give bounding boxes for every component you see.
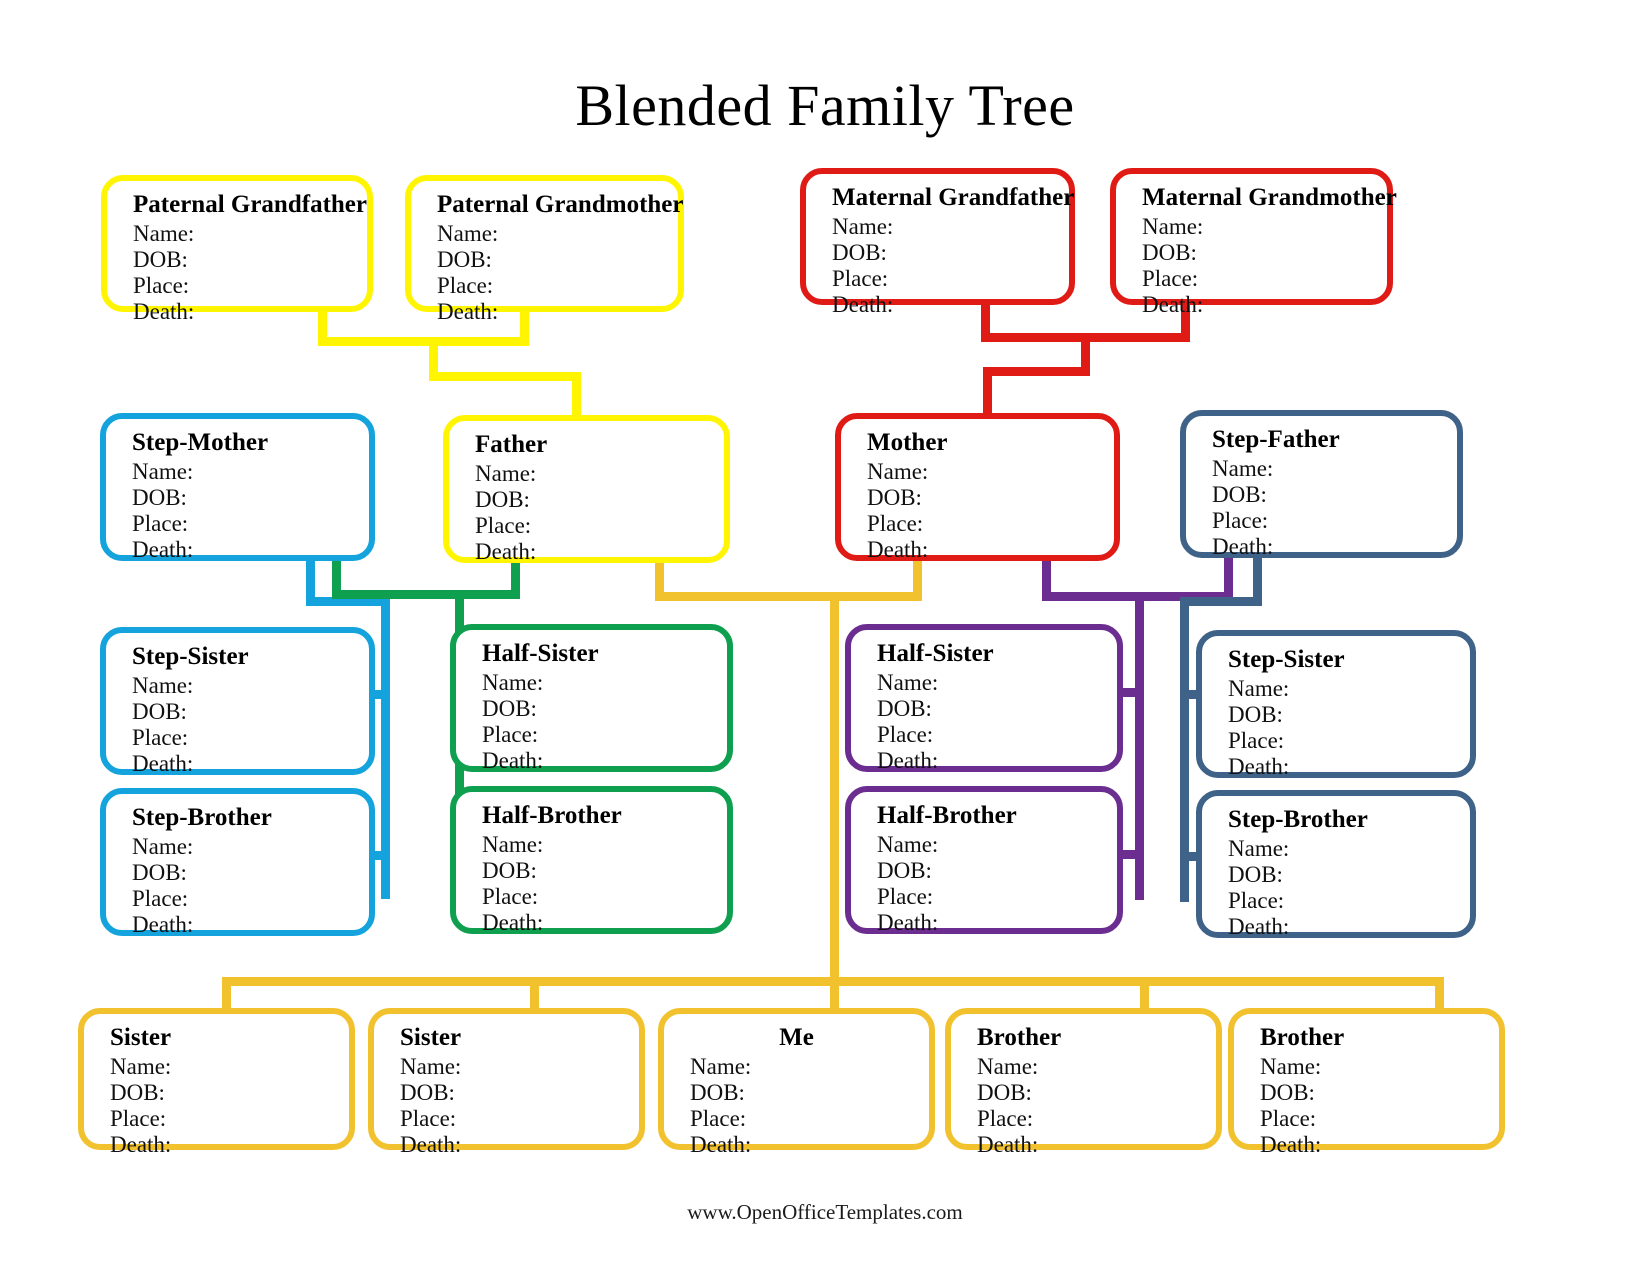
field-place: Place: <box>133 273 367 299</box>
field-dob: DOB: <box>482 696 727 722</box>
field-place: Place: <box>482 884 727 910</box>
node-half-sister-right[interactable]: Half-Sister Name: DOB: Place: Death: <box>845 624 1123 772</box>
node-title: Paternal Grandmother <box>437 191 678 219</box>
field-place: Place: <box>482 722 727 748</box>
field-dob: DOB: <box>1228 702 1470 728</box>
node-step-mother[interactable]: Step-Mother Name: DOB: Place: Death: <box>100 413 375 561</box>
field-name: Name: <box>482 670 727 696</box>
field-death: Death: <box>1142 292 1387 318</box>
field-place: Place: <box>400 1106 639 1132</box>
field-death: Death: <box>977 1132 1216 1158</box>
field-death: Death: <box>482 748 727 774</box>
field-name: Name: <box>877 670 1117 696</box>
node-title: Father <box>475 431 724 459</box>
field-death: Death: <box>1228 914 1470 940</box>
node-title: Step-Mother <box>132 429 369 457</box>
field-place: Place: <box>132 511 369 537</box>
connector-gold-trunk <box>830 592 839 982</box>
field-dob: DOB: <box>437 247 678 273</box>
connector-gold-drop-brother-2 <box>1435 977 1444 1011</box>
field-name: Name: <box>1228 676 1470 702</box>
connector-paternal-couple-bar <box>318 337 529 346</box>
field-name: Name: <box>400 1054 639 1080</box>
field-name: Name: <box>132 459 369 485</box>
connector-maternal-to-mother-bar <box>983 367 1090 376</box>
page-title: Blended Family Tree <box>0 72 1650 139</box>
field-death: Death: <box>400 1132 639 1158</box>
connector-gold-drop-sister-2 <box>530 977 539 1011</box>
field-name: Name: <box>1260 1054 1499 1080</box>
node-title: Maternal Grandfather <box>832 184 1069 212</box>
connector-half-left-couple-bar <box>332 590 520 599</box>
node-paternal-grandfather[interactable]: Paternal Grandfather Name: DOB: Place: D… <box>101 175 373 312</box>
node-sister-1[interactable]: Sister Name: DOB: Place: Death: <box>78 1008 355 1150</box>
field-dob: DOB: <box>132 699 369 725</box>
connector-gold-drop-brother-1 <box>1140 977 1149 1011</box>
field-death: Death: <box>1228 754 1470 780</box>
node-step-brother-left[interactable]: Step-Brother Name: DOB: Place: Death: <box>100 788 375 936</box>
field-place: Place: <box>1228 888 1470 914</box>
field-place: Place: <box>132 886 369 912</box>
field-dob: DOB: <box>690 1080 929 1106</box>
node-sister-2[interactable]: Sister Name: DOB: Place: Death: <box>368 1008 645 1150</box>
field-death: Death: <box>475 539 724 565</box>
connector-gold-drop-me <box>830 977 839 1011</box>
node-step-sister-right[interactable]: Step-Sister Name: DOB: Place: Death: <box>1196 630 1476 778</box>
field-death: Death: <box>132 912 369 938</box>
field-death: Death: <box>132 751 369 777</box>
node-title: Half-Sister <box>482 640 727 668</box>
field-name: Name: <box>132 834 369 860</box>
node-title: Maternal Grandmother <box>1142 184 1387 212</box>
node-title: Step-Brother <box>132 804 369 832</box>
field-place: Place: <box>1142 266 1387 292</box>
field-dob: DOB: <box>132 860 369 886</box>
field-name: Name: <box>1142 214 1387 240</box>
field-place: Place: <box>110 1106 349 1132</box>
field-dob: DOB: <box>1260 1080 1499 1106</box>
field-death: Death: <box>132 537 369 563</box>
field-place: Place: <box>832 266 1069 292</box>
field-dob: DOB: <box>482 858 727 884</box>
field-death: Death: <box>877 910 1117 936</box>
node-half-sister-left[interactable]: Half-Sister Name: DOB: Place: Death: <box>450 624 733 772</box>
node-half-brother-right[interactable]: Half-Brother Name: DOB: Place: Death: <box>845 786 1123 934</box>
field-place: Place: <box>1228 728 1470 754</box>
field-name: Name: <box>1212 456 1457 482</box>
field-dob: DOB: <box>877 696 1117 722</box>
field-place: Place: <box>475 513 724 539</box>
node-brother-2[interactable]: Brother Name: DOB: Place: Death: <box>1228 1008 1505 1150</box>
field-place: Place: <box>690 1106 929 1132</box>
field-dob: DOB: <box>1142 240 1387 266</box>
node-father[interactable]: Father Name: DOB: Place: Death: <box>443 415 730 563</box>
field-name: Name: <box>475 461 724 487</box>
node-title: Half-Brother <box>877 802 1117 830</box>
node-title: Brother <box>1260 1024 1499 1052</box>
node-title: Sister <box>110 1024 349 1052</box>
field-name: Name: <box>877 832 1117 858</box>
field-name: Name: <box>867 459 1114 485</box>
field-dob: DOB: <box>877 858 1117 884</box>
field-name: Name: <box>832 214 1069 240</box>
connector-stepfather-bar <box>1180 597 1262 606</box>
node-title: Brother <box>977 1024 1216 1052</box>
node-title: Me <box>690 1024 929 1052</box>
field-name: Name: <box>482 832 727 858</box>
node-maternal-grandfather[interactable]: Maternal Grandfather Name: DOB: Place: D… <box>800 168 1075 305</box>
field-dob: DOB: <box>110 1080 349 1106</box>
field-place: Place: <box>132 725 369 751</box>
field-place: Place: <box>877 722 1117 748</box>
field-place: Place: <box>1260 1106 1499 1132</box>
node-step-brother-right[interactable]: Step-Brother Name: DOB: Place: Death: <box>1196 790 1476 938</box>
connector-gold-drop-sister-1 <box>222 977 231 1011</box>
field-name: Name: <box>690 1054 929 1080</box>
field-name: Name: <box>437 221 678 247</box>
field-death: Death: <box>867 537 1114 563</box>
field-place: Place: <box>437 273 678 299</box>
connector-paternal-to-father-bar <box>429 372 581 381</box>
node-title: Step-Brother <box>1228 806 1470 834</box>
field-name: Name: <box>110 1054 349 1080</box>
family-tree-page: Blended Family Tree <box>0 0 1650 1275</box>
field-place: Place: <box>877 884 1117 910</box>
field-dob: DOB: <box>1212 482 1457 508</box>
node-title: Step-Father <box>1212 426 1457 454</box>
node-step-sister-left[interactable]: Step-Sister Name: DOB: Place: Death: <box>100 627 375 775</box>
node-title: Step-Sister <box>132 643 369 671</box>
node-title: Mother <box>867 429 1114 457</box>
field-death: Death: <box>482 910 727 936</box>
field-death: Death: <box>110 1132 349 1158</box>
field-death: Death: <box>1212 534 1457 560</box>
node-paternal-grandmother[interactable]: Paternal Grandmother Name: DOB: Place: D… <box>405 175 684 312</box>
field-dob: DOB: <box>132 485 369 511</box>
field-death: Death: <box>437 299 678 325</box>
connector-gold-union-bar <box>655 592 922 601</box>
node-mother[interactable]: Mother Name: DOB: Place: Death: <box>835 413 1120 561</box>
node-title: Step-Sister <box>1228 646 1470 674</box>
field-dob: DOB: <box>832 240 1069 266</box>
field-name: Name: <box>133 221 367 247</box>
field-dob: DOB: <box>400 1080 639 1106</box>
node-maternal-grandmother[interactable]: Maternal Grandmother Name: DOB: Place: D… <box>1110 168 1393 305</box>
field-place: Place: <box>1212 508 1457 534</box>
field-dob: DOB: <box>475 487 724 513</box>
field-death: Death: <box>832 292 1069 318</box>
field-name: Name: <box>132 673 369 699</box>
node-title: Sister <box>400 1024 639 1052</box>
node-title: Half-Brother <box>482 802 727 830</box>
node-half-brother-left[interactable]: Half-Brother Name: DOB: Place: Death: <box>450 786 733 934</box>
node-title: Paternal Grandfather <box>133 191 367 219</box>
field-dob: DOB: <box>977 1080 1216 1106</box>
field-death: Death: <box>133 299 367 325</box>
field-name: Name: <box>1228 836 1470 862</box>
node-step-father[interactable]: Step-Father Name: DOB: Place: Death: <box>1180 410 1463 558</box>
field-death: Death: <box>690 1132 929 1158</box>
field-dob: DOB: <box>867 485 1114 511</box>
node-brother-1[interactable]: Brother Name: DOB: Place: Death: <box>945 1008 1222 1150</box>
connector-paternal-couple-stem <box>429 337 438 377</box>
field-place: Place: <box>867 511 1114 537</box>
field-death: Death: <box>877 748 1117 774</box>
footer-url: www.OpenOfficeTemplates.com <box>0 1200 1650 1225</box>
node-me[interactable]: Me Name: DOB: Place: Death: <box>658 1008 935 1150</box>
field-death: Death: <box>1260 1132 1499 1158</box>
node-title: Half-Sister <box>877 640 1117 668</box>
field-place: Place: <box>977 1106 1216 1132</box>
field-dob: DOB: <box>1228 862 1470 888</box>
field-name: Name: <box>977 1054 1216 1080</box>
field-dob: DOB: <box>133 247 367 273</box>
